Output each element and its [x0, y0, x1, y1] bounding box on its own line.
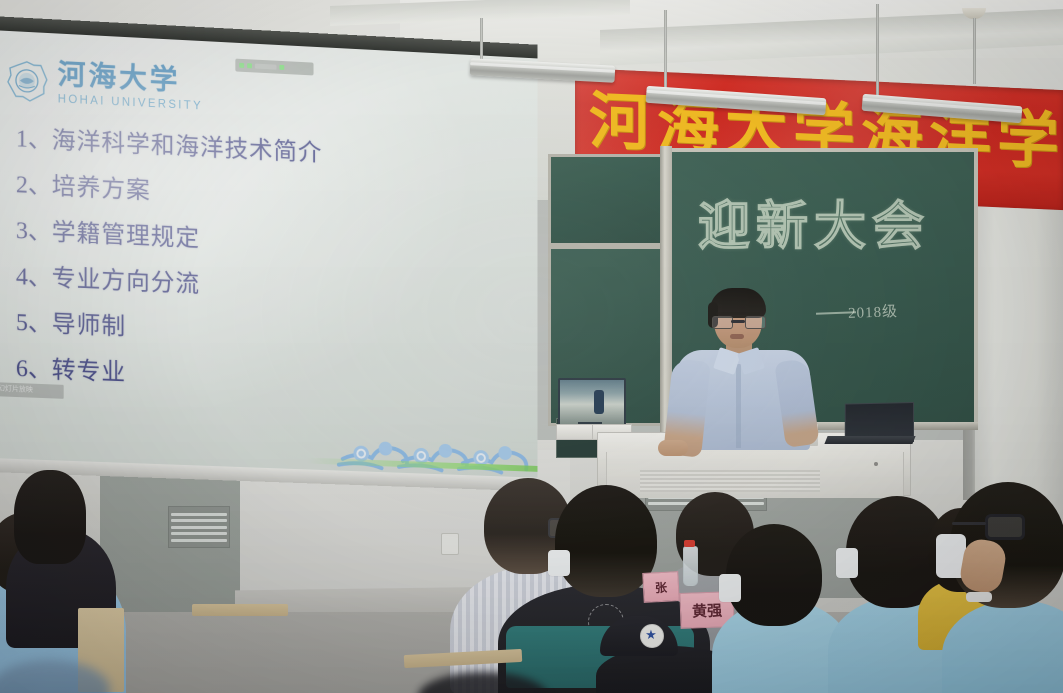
logo-text-block: 河海大学 HOHAI UNIVERSITY	[58, 61, 203, 112]
monitor-video-subject	[594, 390, 604, 414]
slide-item-1-number: 1、	[16, 126, 52, 154]
ceiling-light-1	[470, 18, 630, 98]
light-rod	[876, 4, 879, 102]
bottle-cap	[684, 540, 695, 547]
lecture-hall-photo: 河海大学海洋学院 迎新大会 2018级	[0, 0, 1063, 693]
toolbar-dot-3[interactable]	[255, 64, 277, 70]
ceiling-light-pendant-rod	[973, 18, 977, 84]
light-rod	[664, 10, 667, 94]
face-mask	[836, 548, 858, 578]
slide-item-6-number: 6、	[16, 356, 52, 383]
wristwatch	[966, 592, 992, 602]
face-mask	[548, 550, 570, 576]
slide-item-3: 3、学籍管理规定	[16, 219, 486, 264]
toolbar-dot-1[interactable]	[239, 63, 244, 68]
ceiling-light-3	[862, 4, 1042, 128]
hohai-seal-icon	[6, 60, 48, 104]
presenter-shirt-placket	[736, 364, 741, 448]
laptop-keyboard[interactable]	[824, 436, 915, 444]
face-mask	[719, 574, 741, 602]
presenter-mouth	[730, 334, 744, 339]
slide-surface: 河海大学 HOHAI UNIVERSITY 1、海洋科学和海洋技术简介 2、培养…	[0, 30, 538, 478]
logo-chinese-name: 河海大学	[58, 61, 203, 96]
name-card: 张	[642, 571, 680, 603]
blackboard-panel-left-top	[548, 154, 666, 246]
slide-item-5-number: 5、	[16, 310, 52, 337]
slide-item-2: 2、培养方案	[16, 173, 486, 218]
water-bottle	[683, 546, 698, 586]
slide-item-4: 4、专业方向分流	[16, 265, 486, 309]
light-rod	[480, 18, 483, 64]
presenter-hand-left	[658, 440, 688, 456]
slide-item-5: 5、导师制	[16, 311, 486, 354]
projection-screen: 河海大学 HOHAI UNIVERSITY 1、海洋科学和海洋技术简介 2、培养…	[0, 16, 538, 490]
podium-grill	[640, 470, 820, 492]
light-tube	[470, 58, 616, 83]
slide-item-2-number: 2、	[16, 172, 52, 200]
slide-item-5-text: 导师制	[52, 312, 126, 341]
slide-item-4-text: 专业方向分流	[52, 266, 200, 298]
folding-desk	[192, 604, 288, 616]
audience-member-head	[14, 470, 86, 564]
toolbar-dot-4[interactable]	[279, 65, 284, 70]
presenter-brow	[716, 312, 760, 315]
glasses-arm	[952, 522, 986, 525]
speaker-left	[556, 424, 596, 440]
cap-star-icon: ★	[640, 624, 662, 646]
audience-member-glasses-icon	[985, 514, 1025, 540]
light-rod	[973, 18, 976, 84]
slide-item-6: 6、转专业	[16, 357, 486, 399]
ceiling-light-2	[646, 10, 846, 120]
light-tube	[862, 94, 1023, 124]
logo-english-name: HOHAI UNIVERSITY	[58, 93, 203, 112]
toolbar-dot-2[interactable]	[247, 63, 252, 68]
slide-logo: 河海大学 HOHAI UNIVERSITY	[6, 59, 203, 113]
slide-item-6-text: 转专业	[52, 357, 126, 386]
power-outlet	[441, 533, 459, 555]
presenter	[650, 288, 830, 448]
slide-item-4-number: 4、	[16, 264, 52, 291]
podium-monitor	[558, 378, 626, 426]
monitor-video-frame	[560, 380, 624, 424]
slide-item-2-text: 培养方案	[52, 174, 151, 204]
light-tube	[646, 86, 827, 116]
glasses-icon	[712, 316, 764, 327]
chalk-subtitle: 2018级	[848, 300, 899, 323]
wall-vent-left	[168, 506, 230, 548]
slide-item-1: 1、海洋科学和海洋技术简介	[16, 127, 486, 173]
slide-item-3-number: 3、	[16, 218, 52, 246]
slideshow-taskbar[interactable]: 幻灯片放映	[0, 382, 64, 399]
slide-item-1-text: 海洋科学和海洋技术简介	[52, 128, 323, 167]
chalk-title: 迎新大会	[698, 184, 930, 259]
podium-lock	[874, 462, 878, 466]
slide-agenda-list: 1、海洋科学和海洋技术简介 2、培养方案 3、学籍管理规定 4、专业方向分流 5…	[16, 127, 486, 421]
slideshow-toolbar[interactable]	[235, 59, 313, 76]
slide-item-3-text: 学籍管理规定	[52, 220, 200, 252]
